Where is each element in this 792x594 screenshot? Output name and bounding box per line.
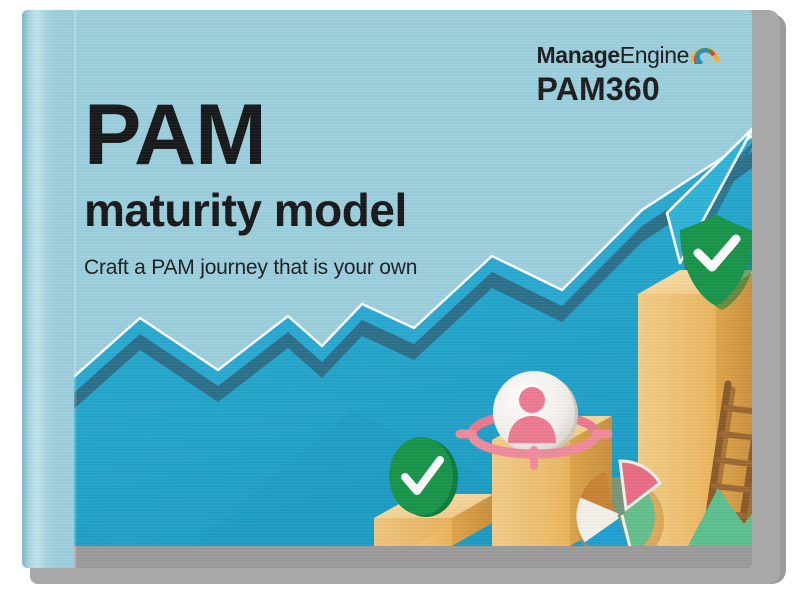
book-spine-crease (74, 10, 77, 568)
brand-product-name: PAM360 (537, 71, 720, 108)
brand-company-bold: Manage (537, 42, 620, 68)
avatar-head (519, 387, 545, 413)
brand-company-light: Engine (620, 42, 689, 68)
page-tagline: Craft a PAM journey that is your own (84, 256, 417, 280)
rainbow-arc-icon (690, 38, 720, 64)
brand-company-name: ManageEngine (537, 42, 689, 69)
ebook-cover-scene: PAM maturity model Craft a PAM journey t… (0, 0, 792, 594)
brand-lockup: ManageEngine PAM360 (537, 42, 720, 108)
book-cover: PAM maturity model Craft a PAM journey t… (22, 10, 752, 568)
cover-text-block: PAM maturity model Craft a PAM journey t… (84, 96, 417, 280)
book-spine (22, 10, 74, 568)
page-subtitle: maturity model (84, 186, 417, 234)
page-title: PAM (84, 96, 417, 176)
ground-surface (22, 546, 752, 568)
